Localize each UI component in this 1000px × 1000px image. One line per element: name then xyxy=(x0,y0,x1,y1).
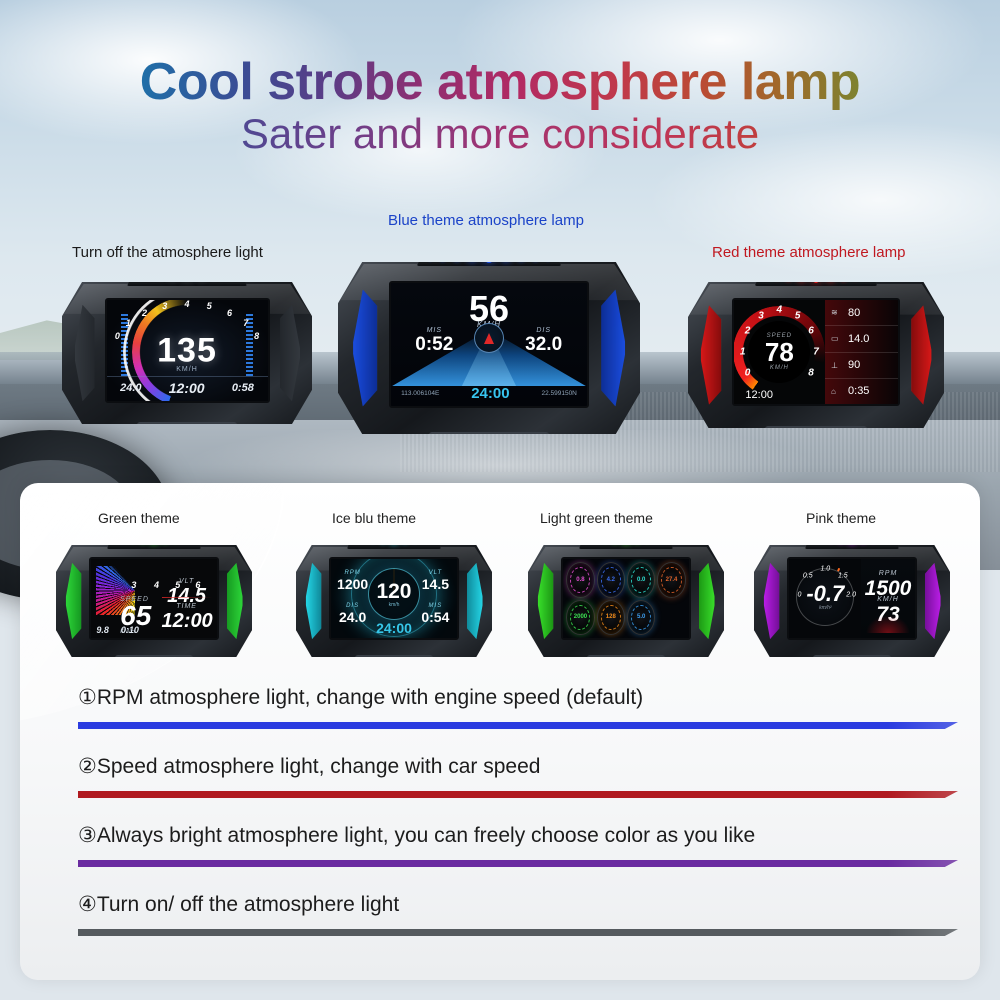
rpm-digit: 7 xyxy=(243,318,248,328)
device-shell: 56 KM/H MIS 0:52 DIS 32.0 113.006104E 24… xyxy=(338,262,640,434)
dial-digit: 6 xyxy=(808,326,814,337)
side-wing-right xyxy=(911,305,931,404)
rpm-digit: 4 xyxy=(184,299,189,309)
readout-value: 80 xyxy=(848,307,860,319)
bottom-min-value: 0:58 xyxy=(232,382,254,394)
theme-label-light-green: Light green theme xyxy=(540,510,653,526)
side-wing-left xyxy=(701,305,721,404)
feature-text: ①RPM atmosphere light, change with engin… xyxy=(78,686,958,709)
feature-text: ②Speed atmosphere light, change with car… xyxy=(78,755,958,778)
mini-gauge: 5.0 xyxy=(627,600,655,635)
g-meter-gauge: -0.7 km/h² 00.51.01.52.0 xyxy=(789,559,861,638)
anchor-icon: ⊥ xyxy=(831,361,843,370)
dial-tick-label: 0.5 xyxy=(803,573,813,580)
side-wing-left xyxy=(764,563,780,639)
readout-row: ≋ 80 xyxy=(825,300,898,326)
battery-icon: ▭ xyxy=(831,334,843,343)
page-title: Cool strobe atmosphere lamp xyxy=(0,52,1000,112)
dis-value: 32.0 xyxy=(512,334,575,356)
bottom-value-2: 0:10 xyxy=(121,625,139,635)
bar-digit: 3 xyxy=(131,580,136,590)
mini-gauge-value: 5.0 xyxy=(628,614,654,620)
dial-digit: 4 xyxy=(777,305,783,316)
time-key: TIME xyxy=(162,603,212,610)
side-wing-right xyxy=(227,563,243,639)
readout-value: 14.0 xyxy=(848,333,869,345)
device-screen-green: 3456 SPEED 65 KM/H VLT 14.5 TIME 12:00 9… xyxy=(89,557,218,640)
gps-longitude: 113.006104E xyxy=(401,390,439,397)
dial-digit: 2 xyxy=(745,326,751,337)
feature-text: ④Turn on/ off the atmosphere light xyxy=(78,893,958,916)
device-light-green-theme[interactable]: 0.84.20.027.420001285.0 xyxy=(528,545,724,657)
side-readouts: RPM 1500 KM/H 73 xyxy=(861,559,914,638)
page-subtitle: Sater and more considerate xyxy=(0,110,1000,158)
side-wing-left xyxy=(66,563,82,639)
rpm-value: 1200 xyxy=(335,576,370,592)
rpm-key: RPM xyxy=(861,570,914,577)
device-red-theme[interactable]: SPEED 78 KM/H 012345678 12:00 ≋ 80 ▭ 14.… xyxy=(688,282,944,428)
rpm-digit: 3 xyxy=(162,301,167,311)
rpm-digit: 1 xyxy=(126,318,131,328)
speed-unit: km/h xyxy=(389,602,400,608)
rpm-digit: 2 xyxy=(142,308,147,318)
device-screen-off: 012345678 135 KM/H 24.0 12:00 0:58 xyxy=(105,298,270,403)
mini-gauge: 0.0 xyxy=(627,562,655,597)
clock-value: 12:00 xyxy=(734,389,785,401)
bottom-readouts: 9.8 0:10 xyxy=(96,625,139,635)
gps-row: 113.006104E 24:00 22.599150N xyxy=(391,385,586,402)
dial-digit: 5 xyxy=(795,311,801,322)
feature-divider-bar xyxy=(78,722,958,729)
side-wing-right xyxy=(601,290,625,407)
side-wing-right xyxy=(467,563,483,639)
bottom-value-1: 9.8 xyxy=(96,625,109,635)
speed-gauge: SPEED 78 KM/H 012345678 12:00 xyxy=(734,300,826,404)
speed-value: 78 xyxy=(765,339,794,365)
mis-key: MIS xyxy=(403,327,466,334)
dial-digit: 1 xyxy=(740,347,746,358)
dial-digit: 7 xyxy=(813,347,819,358)
side-wing-right xyxy=(925,563,941,639)
label-red-theme: Red theme atmosphere lamp xyxy=(712,244,905,261)
device-shell: -0.7 km/h² 00.51.01.52.0 RPM 1500 KM/H 7… xyxy=(754,545,950,657)
rpm-digit: 5 xyxy=(207,301,212,311)
device-ice-blue-theme[interactable]: 120 km/h RPM 1200 VLT 14.5 DIS 24.0 MIS xyxy=(296,545,492,657)
dial-digit: 0 xyxy=(745,367,751,378)
time-value: 12:00 xyxy=(162,610,212,633)
readout-row: ▭ 14.0 xyxy=(825,326,898,352)
g-value: -0.7 xyxy=(806,583,844,605)
dial-tick-label: 0 xyxy=(798,591,802,598)
theme-label-green: Green theme xyxy=(98,510,180,526)
readout-row: ⌂ 0:35 xyxy=(825,379,898,404)
feature-item: ③Always bright atmosphere light, you can… xyxy=(78,824,958,893)
mis-cell: MIS 0:52 xyxy=(403,327,466,356)
bottom-clock: 12:00 xyxy=(169,380,205,396)
vlt-key: VLT xyxy=(162,578,212,585)
side-wing-left xyxy=(538,563,554,639)
speed-value: 120 xyxy=(376,581,411,602)
feature-item: ①RPM atmosphere light, change with engin… xyxy=(78,686,958,755)
device-shell: 012345678 135 KM/H 24.0 12:00 0:58 xyxy=(62,282,312,424)
g-unit: km/h² xyxy=(819,605,832,611)
mini-gauge: 0.8 xyxy=(566,562,594,597)
mis-value: 0:52 xyxy=(403,334,466,356)
readout-value: 0:35 xyxy=(848,385,869,397)
rpm-digit: 6 xyxy=(227,308,232,318)
readout-row: ⊥ 90 xyxy=(825,353,898,379)
clock-value: 24:00 xyxy=(471,385,509,402)
side-wing-right xyxy=(280,305,300,402)
dis-cell: DIS 32.0 xyxy=(512,327,575,356)
mini-gauge: 4.2 xyxy=(597,562,625,597)
feature-text: ③Always bright atmosphere light, you can… xyxy=(78,824,958,847)
device-green-theme[interactable]: 3456 SPEED 65 KM/H VLT 14.5 TIME 12:00 9… xyxy=(56,545,252,657)
dial-center: 120 km/h xyxy=(368,568,420,620)
vlt-value: 14.5 xyxy=(418,576,453,592)
mini-gauge: 27.4 xyxy=(657,562,685,597)
theme-label-pink: Pink theme xyxy=(806,510,876,526)
screen-bg: 56 KM/H MIS 0:52 DIS 32.0 113.006104E 24… xyxy=(391,283,586,406)
mini-gauge-value: 0.8 xyxy=(567,577,593,583)
feature-divider-bar xyxy=(78,791,958,798)
dial-tick-label: 2.0 xyxy=(846,591,856,598)
clock-value: 24:00 xyxy=(331,620,456,636)
bar-digit: 4 xyxy=(154,580,159,590)
side-readouts: ≋ 80 ▭ 14.0 ⊥ 90 ⌂ 0:35 xyxy=(825,300,898,404)
bottom-status-bar: 24.0 12:00 0:58 xyxy=(107,376,268,398)
device-screen-light-green: 0.84.20.027.420001285.0 xyxy=(561,557,690,640)
mini-gauge-value: 2000 xyxy=(567,614,593,620)
screen-bg: -0.7 km/h² 00.51.01.52.0 RPM 1500 KM/H 7… xyxy=(789,559,914,638)
screen-bg: 120 km/h RPM 1200 VLT 14.5 DIS 24.0 MIS xyxy=(331,559,456,638)
device-screen-red: SPEED 78 KM/H 012345678 12:00 ≋ 80 ▭ 14.… xyxy=(732,298,901,406)
cell-divider xyxy=(162,597,212,598)
feature-item: ②Speed atmosphere light, change with car… xyxy=(78,755,958,824)
device-screen-pink: -0.7 km/h² 00.51.01.52.0 RPM 1500 KM/H 7… xyxy=(787,557,916,640)
side-wing-right xyxy=(699,563,715,639)
screen-bg: SPEED 78 KM/H 012345678 12:00 ≋ 80 ▭ 14.… xyxy=(734,300,899,404)
feature-list: ①RPM atmosphere light, change with engin… xyxy=(78,686,958,962)
device-shell: 3456 SPEED 65 KM/H VLT 14.5 TIME 12:00 9… xyxy=(56,545,252,657)
gps-latitude: 22.599150N xyxy=(541,390,576,397)
dial-digit: 8 xyxy=(808,367,814,378)
dial-tick-label: 1.0 xyxy=(820,565,830,572)
speed-unit: KM/H xyxy=(107,366,268,373)
mini-gauge-value: 128 xyxy=(598,614,624,620)
mini-gauge-value: 0.0 xyxy=(628,577,654,583)
device-shell: 0.84.20.027.420001285.0 xyxy=(528,545,724,657)
side-wing-left xyxy=(75,305,95,402)
device-off-theme[interactable]: 012345678 135 KM/H 24.0 12:00 0:58 xyxy=(62,282,312,424)
gauge-center: SPEED 78 KM/H xyxy=(748,321,810,383)
hud-graphic xyxy=(866,615,911,634)
feature-divider-bar xyxy=(78,860,958,867)
side-wing-left xyxy=(306,563,322,639)
vlt-cell: VLT 14.5 xyxy=(418,570,453,592)
mini-gauge: 128 xyxy=(597,600,625,635)
rpm-cell: RPM 1200 xyxy=(335,570,370,592)
feature-item: ④Turn on/ off the atmosphere light xyxy=(78,893,958,962)
time-cell: TIME 12:00 xyxy=(162,603,212,633)
device-blue-theme[interactable]: 56 KM/H MIS 0:52 DIS 32.0 113.006104E 24… xyxy=(338,262,640,434)
speed-key: KM/H xyxy=(861,596,914,603)
device-screen-ice-blue: 120 km/h RPM 1200 VLT 14.5 DIS 24.0 MIS xyxy=(329,557,458,640)
side-wing-left xyxy=(353,290,377,407)
bottom-dis-value: 24.0 xyxy=(120,382,141,394)
feature-divider-bar xyxy=(78,929,958,936)
device-screen-blue: 56 KM/H MIS 0:52 DIS 32.0 113.006104E 24… xyxy=(389,281,588,408)
device-pink-theme[interactable]: -0.7 km/h² 00.51.01.52.0 RPM 1500 KM/H 7… xyxy=(754,545,950,657)
multi-gauge-grid: 0.84.20.027.420001285.0 xyxy=(563,559,688,638)
label-turn-off-light: Turn off the atmosphere light xyxy=(72,244,263,261)
mini-gauge-value: 4.2 xyxy=(598,577,624,583)
compass-icon xyxy=(474,323,504,353)
dial-tick-label: 1.5 xyxy=(838,573,848,580)
theme-label-ice-blue: Ice blu theme xyxy=(332,510,416,526)
dis-key: DIS xyxy=(512,327,575,334)
label-blue-theme: Blue theme atmosphere lamp xyxy=(388,212,584,229)
device-shell: 120 km/h RPM 1200 VLT 14.5 DIS 24.0 MIS xyxy=(296,545,492,657)
speed-unit: KM/H xyxy=(770,365,789,371)
screen-bg: 3456 SPEED 65 KM/H VLT 14.5 TIME 12:00 9… xyxy=(91,559,216,638)
device-shell: SPEED 78 KM/H 012345678 12:00 ≋ 80 ▭ 14.… xyxy=(688,282,944,428)
air-icon: ≋ xyxy=(831,308,843,317)
mini-gauge-value: 27.4 xyxy=(658,577,684,583)
speed-value: 135 xyxy=(107,332,268,371)
readout-value: 90 xyxy=(848,359,860,371)
dial-digit: 3 xyxy=(758,311,764,322)
mini-gauge: 2000 xyxy=(566,600,594,635)
engine-icon: ⌂ xyxy=(831,387,843,396)
